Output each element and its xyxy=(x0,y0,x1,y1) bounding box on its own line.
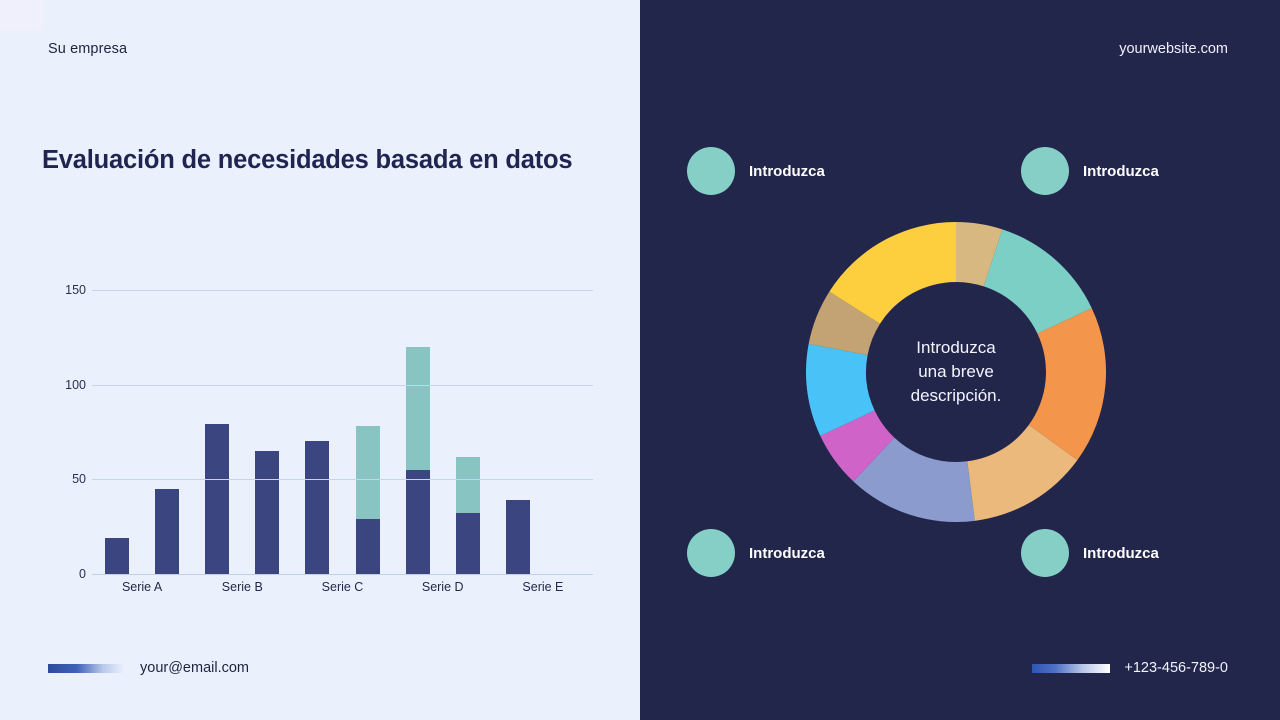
y-axis-tick-label: 150 xyxy=(65,283,86,297)
x-axis-tick-label: Serie D xyxy=(393,580,493,594)
bar[interactable] xyxy=(356,426,380,574)
bar[interactable] xyxy=(105,538,129,574)
bar-segment-series1 xyxy=(506,500,530,574)
bar-segment-series1 xyxy=(155,489,179,574)
bar-segment-series2 xyxy=(456,457,480,514)
left-footer: your@email.com xyxy=(48,660,249,676)
gridline xyxy=(92,385,593,386)
legend-item-top-left[interactable]: Introduzca xyxy=(687,147,825,195)
legend-dot-icon xyxy=(1021,147,1069,195)
legend-dot-icon xyxy=(687,529,735,577)
bar[interactable] xyxy=(305,441,329,574)
bar-segment-series1 xyxy=(406,470,430,574)
bar-slot xyxy=(493,290,543,574)
bar-slot xyxy=(192,290,242,574)
bar-chart: 050100150 Serie ASerie BSerie CSerie DSe… xyxy=(48,290,593,590)
x-axis: Serie ASerie BSerie CSerie DSerie E xyxy=(92,580,593,594)
y-axis-tick-label: 50 xyxy=(72,472,86,486)
legend-item-top-right[interactable]: Introduzca xyxy=(1021,147,1159,195)
legend-dot-icon xyxy=(1021,529,1069,577)
bar[interactable] xyxy=(456,457,480,574)
bar-segment-series2 xyxy=(356,426,380,519)
bar-slot xyxy=(393,290,443,574)
x-axis-tick-label: Serie E xyxy=(493,580,593,594)
website-url[interactable]: yourwebsite.com xyxy=(1119,41,1228,57)
bar-segment-series1 xyxy=(205,424,229,574)
bar-slot xyxy=(292,290,342,574)
bar[interactable] xyxy=(406,347,430,574)
bar[interactable] xyxy=(506,500,530,574)
slide: Su empresa Evaluación de necesidades bas… xyxy=(0,0,1280,720)
legend-label: Introduzca xyxy=(749,545,825,562)
bar-segment-series1 xyxy=(255,451,279,574)
company-name: Su empresa xyxy=(48,41,127,57)
bar[interactable] xyxy=(205,424,229,574)
corner-decoration xyxy=(0,0,44,30)
right-footer: +123-456-789-0 xyxy=(1032,660,1228,676)
bar[interactable] xyxy=(155,489,179,574)
gridline xyxy=(92,479,593,480)
bar-slot xyxy=(443,290,493,574)
bar-slot xyxy=(92,290,142,574)
contact-email[interactable]: your@email.com xyxy=(140,660,249,676)
bar-segment-series1 xyxy=(356,519,380,574)
y-axis-tick-label: 0 xyxy=(79,567,86,581)
y-axis: 050100150 xyxy=(48,290,86,574)
bar-segment-series1 xyxy=(305,441,329,574)
bar-slot xyxy=(142,290,192,574)
bar-series-container xyxy=(92,290,593,574)
y-axis-tick-label: 100 xyxy=(65,378,86,392)
left-panel: Su empresa Evaluación de necesidades bas… xyxy=(0,0,640,720)
gridline xyxy=(92,574,593,575)
right-panel: yourwebsite.com Introduzca Introduzca In… xyxy=(640,0,1280,720)
contact-phone[interactable]: +123-456-789-0 xyxy=(1124,660,1228,676)
bar-segment-series1 xyxy=(456,513,480,574)
x-axis-tick-label: Serie C xyxy=(292,580,392,594)
gradient-rule-icon xyxy=(1032,664,1110,673)
legend-item-bottom-right[interactable]: Introduzca xyxy=(1021,529,1159,577)
donut-slices xyxy=(806,222,1106,522)
x-axis-tick-label: Serie B xyxy=(192,580,292,594)
legend-label: Introduzca xyxy=(749,163,825,180)
bar-slot xyxy=(242,290,292,574)
gradient-rule-icon xyxy=(48,664,124,673)
legend-label: Introduzca xyxy=(1083,163,1159,180)
bar-slot xyxy=(342,290,392,574)
legend-label: Introduzca xyxy=(1083,545,1159,562)
legend-item-bottom-left[interactable]: Introduzca xyxy=(687,529,825,577)
legend-dot-icon xyxy=(687,147,735,195)
page-title: Evaluación de necesidades basada en dato… xyxy=(42,145,602,177)
bar-chart-plot-area xyxy=(92,290,593,574)
donut-chart-svg xyxy=(806,222,1106,522)
x-axis-tick-label: Serie A xyxy=(92,580,192,594)
gridline xyxy=(92,290,593,291)
bar-slot xyxy=(543,290,593,574)
donut-chart: Introduzca una breve descripción. xyxy=(806,222,1106,522)
bar-segment-series2 xyxy=(406,347,430,470)
bar-segment-series1 xyxy=(105,538,129,574)
bar[interactable] xyxy=(255,451,279,574)
